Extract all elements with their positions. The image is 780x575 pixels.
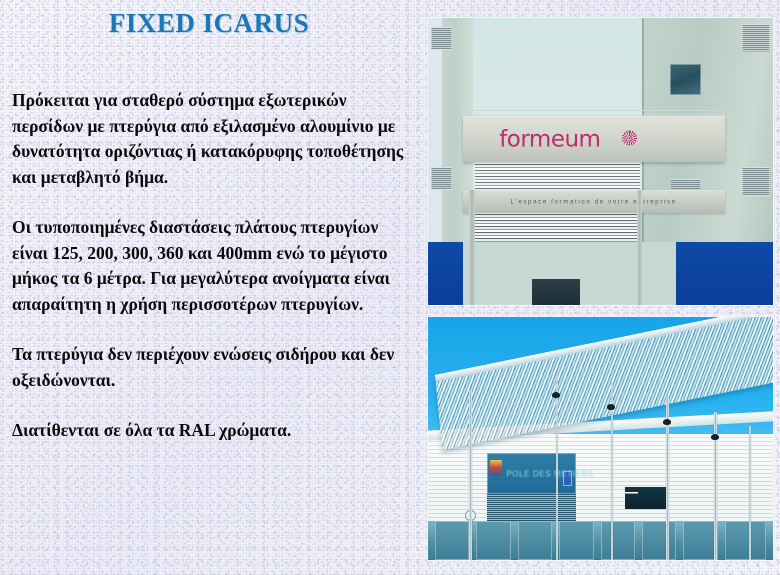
paragraph-3: Τα πτερύγια δεν περιέχουν ενώσεις σιδήρο… — [12, 342, 404, 393]
canopy-lamp-3-icon — [663, 419, 671, 425]
window-far-right-top — [742, 24, 770, 53]
paragraph-4: Διατίθενται σε όλα τα RAL χρώματα. — [12, 418, 404, 444]
slide-canvas: FIXED ICARUS Πρόκειται για σταθερό σύστη… — [0, 0, 780, 575]
glazing-panel-3 — [518, 521, 553, 560]
window-far-left-top — [431, 27, 452, 50]
building-sign-band: formeum — [463, 116, 725, 163]
tagline-band: L'espace formation de votre entreprise — [463, 190, 725, 213]
photo-louvre-canopy: POLE DES METIERS — [428, 317, 773, 560]
glazing-panel-5 — [601, 521, 636, 560]
building-sign-panel: POLE DES METIERS — [487, 453, 577, 494]
support-mast-2 — [556, 373, 559, 560]
left-content-column: FIXED ICARUS Πρόκειται για σταθερό σύστη… — [0, 0, 418, 575]
tagline-text: L'espace formation de votre entreprise — [510, 198, 676, 205]
window-far-right-mid — [742, 167, 770, 196]
support-mast-6 — [749, 426, 752, 560]
entrance-door — [532, 279, 580, 305]
formeum-logo-mark-icon — [622, 130, 637, 145]
column-left — [469, 190, 475, 305]
glazing-panel-7 — [683, 521, 718, 560]
glazing-panel-8 — [725, 521, 766, 560]
page-title: FIXED ICARUS — [0, 8, 418, 39]
glazing-panel-1 — [435, 521, 470, 560]
glazing-panel-2 — [476, 521, 511, 560]
glazing-panel-6 — [642, 521, 677, 560]
formeum-logo-text: formeum — [499, 128, 600, 151]
balcony-railing — [576, 492, 638, 502]
paragraph-2: Οι τυποποιημένες διαστάσεις πλάτους πτερ… — [12, 215, 404, 317]
window-upper-right — [670, 64, 701, 96]
column-right — [637, 190, 643, 305]
glazing-panel-4 — [559, 521, 594, 560]
louvre-screen-upper — [475, 162, 641, 191]
window-far-left-mid — [431, 167, 452, 190]
photo-formeum-building: formeum L'espace formation de votre entr… — [428, 18, 773, 305]
support-mast-1 — [469, 390, 472, 560]
body-copy: Πρόκειται για σταθερό σύστημα εξωτερικών… — [12, 88, 404, 444]
paragraph-1: Πρόκειται για σταθερό σύστημα εξωτερικών… — [12, 88, 404, 190]
sign-emblem-icon — [490, 460, 502, 477]
building-sign-text: POLE DES METIERS — [506, 469, 593, 478]
canopy-lamp-4-icon — [711, 434, 719, 440]
